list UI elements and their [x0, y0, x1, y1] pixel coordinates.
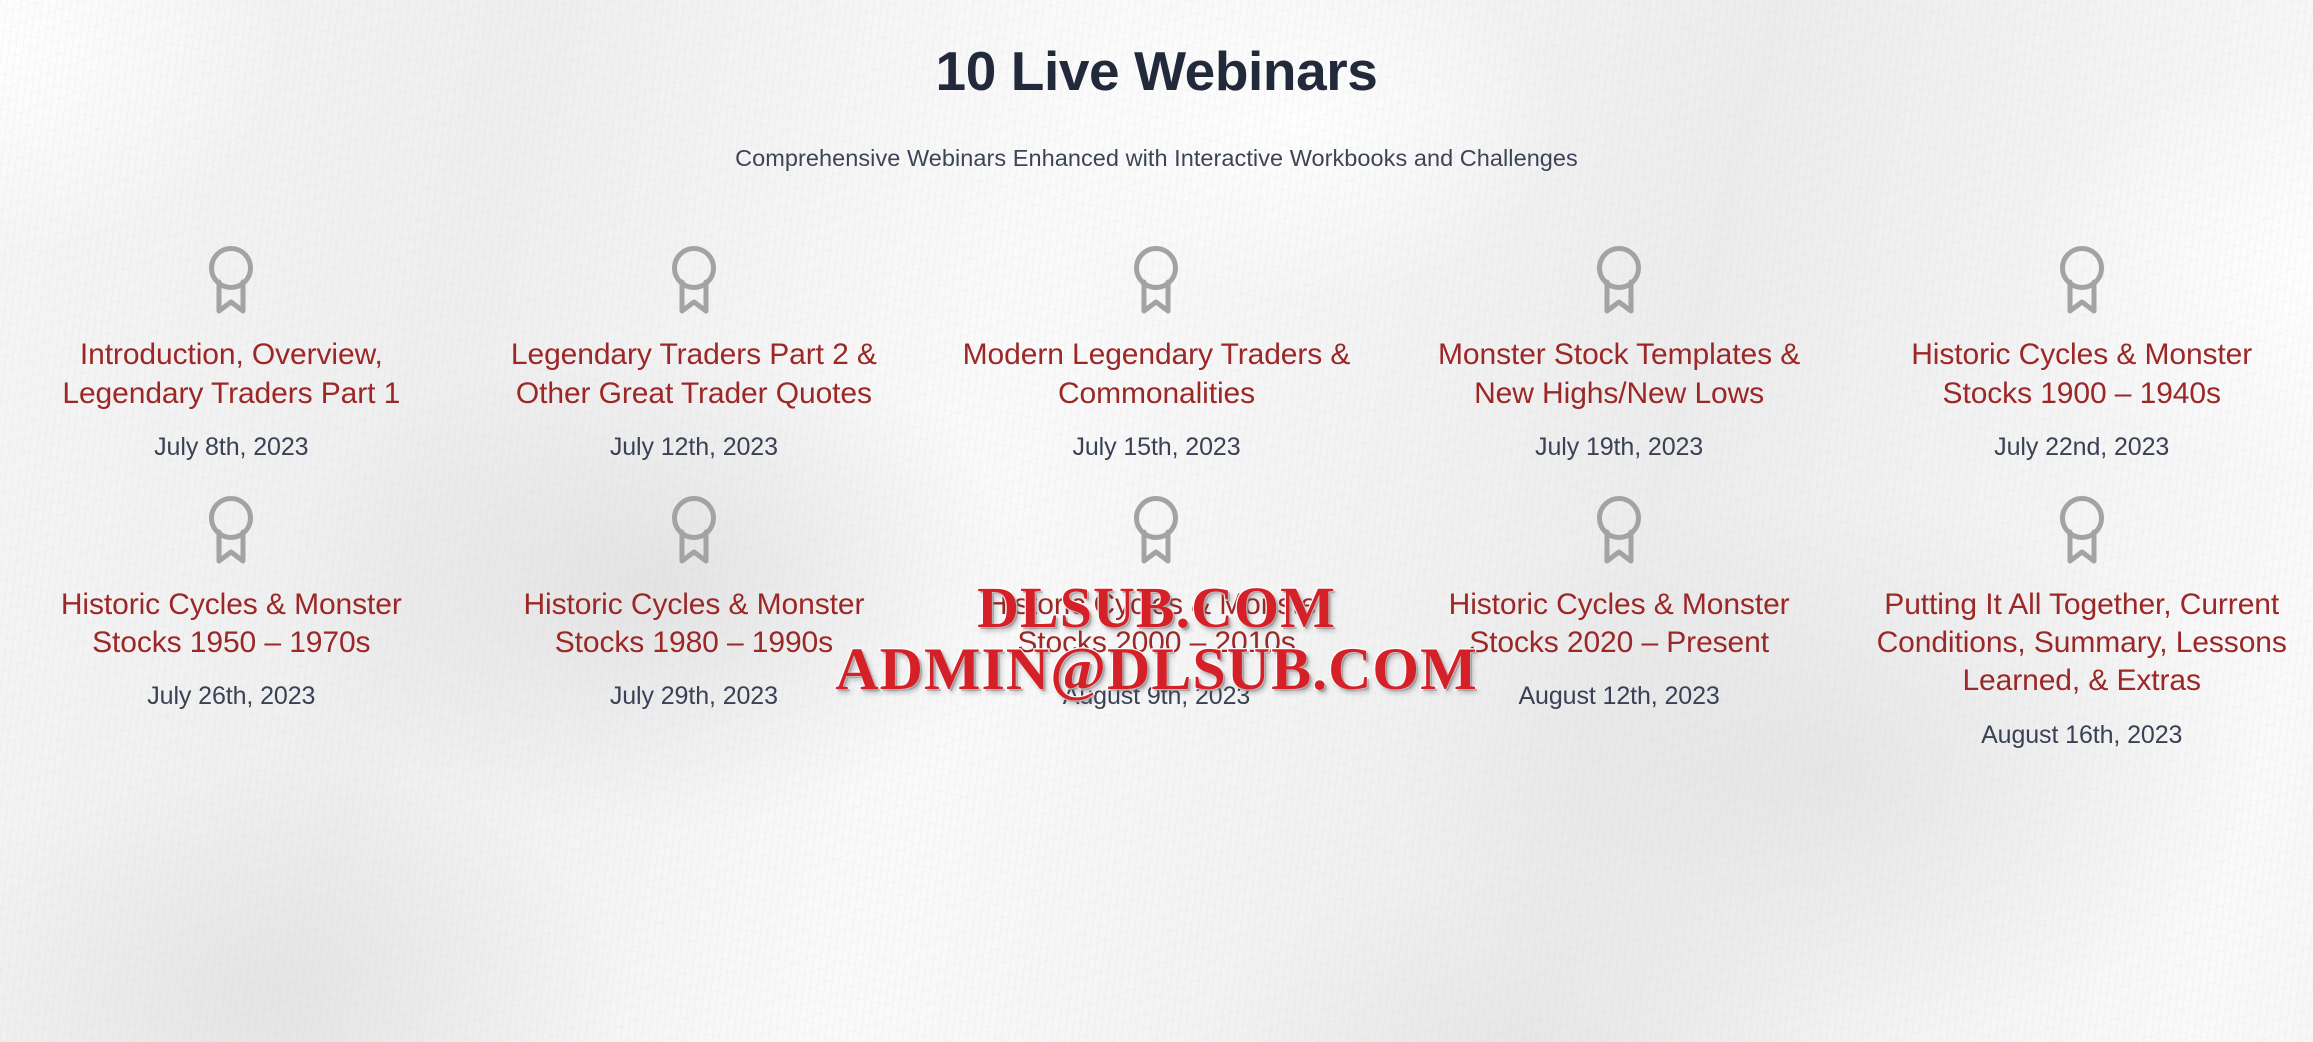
award-ribbon-icon [2050, 244, 2114, 316]
webinar-title: Historic Cycles & Monster Stocks 2020 – … [1410, 586, 1829, 663]
webinar-card[interactable]: Historic Cycles & Monster Stocks 1900 – … [1850, 244, 2313, 463]
webinar-date: July 26th, 2023 [147, 680, 315, 713]
webinar-card[interactable]: Legendary Traders Part 2 & Other Great T… [463, 244, 926, 463]
page-title: 10 Live Webinars [0, 0, 2313, 101]
webinar-title: Historic Cycles & Monster Stocks 1980 – … [485, 586, 904, 663]
webinar-title: Historic Cycles & Monster Stocks 1950 – … [22, 586, 441, 663]
webinar-date: July 12th, 2023 [610, 431, 778, 464]
webinar-title: Legendary Traders Part 2 & Other Great T… [485, 336, 904, 413]
award-ribbon-icon [662, 494, 726, 566]
award-ribbon-icon [1124, 494, 1188, 566]
webinar-date: August 12th, 2023 [1518, 680, 1719, 713]
award-ribbon-icon [662, 244, 726, 316]
webinar-date: July 19th, 2023 [1535, 431, 1703, 464]
webinar-title: Historic Cycles & Monster Stocks 2000 – … [947, 586, 1366, 663]
award-ribbon-icon [1587, 494, 1651, 566]
webinar-date: July 8th, 2023 [154, 431, 308, 464]
webinar-title: Historic Cycles & Monster Stocks 1900 – … [1872, 336, 2291, 413]
webinar-title: Modern Legendary Traders & Commonalities [947, 336, 1366, 413]
award-ribbon-icon [2050, 494, 2114, 566]
award-ribbon-icon [1124, 244, 1188, 316]
webinar-card[interactable]: Introduction, Overview, Legendary Trader… [0, 244, 463, 463]
award-ribbon-icon [199, 494, 263, 566]
webinar-card[interactable]: Modern Legendary Traders & Commonalities… [925, 244, 1388, 463]
webinar-card[interactable]: Historic Cycles & Monster Stocks 1980 – … [463, 494, 926, 752]
webinar-date: August 16th, 2023 [1981, 719, 2182, 752]
page-subtitle: Comprehensive Webinars Enhanced with Int… [0, 101, 2313, 172]
webinar-date: August 9th, 2023 [1063, 680, 1250, 713]
award-ribbon-icon [1587, 244, 1651, 316]
webinar-card[interactable]: Historic Cycles & Monster Stocks 1950 – … [0, 494, 463, 752]
webinar-card[interactable]: Historic Cycles & Monster Stocks 2020 – … [1388, 494, 1851, 752]
webinar-card[interactable]: Historic Cycles & Monster Stocks 2000 – … [925, 494, 1388, 752]
page-background: 10 Live Webinars Comprehensive Webinars … [0, 0, 2313, 1042]
webinar-title: Monster Stock Templates & New Highs/New … [1410, 336, 1829, 413]
webinar-date: July 15th, 2023 [1072, 431, 1240, 464]
webinar-title: Introduction, Overview, Legendary Trader… [22, 336, 441, 413]
webinar-grid: Introduction, Overview, Legendary Trader… [0, 172, 2313, 751]
award-ribbon-icon [199, 244, 263, 316]
webinar-date: July 22nd, 2023 [1994, 431, 2169, 464]
webinar-card[interactable]: Monster Stock Templates & New Highs/New … [1388, 244, 1851, 463]
webinar-date: July 29th, 2023 [610, 680, 778, 713]
page-header: 10 Live Webinars Comprehensive Webinars … [0, 0, 2313, 172]
page-content: 10 Live Webinars Comprehensive Webinars … [0, 0, 2313, 1042]
webinar-card[interactable]: Putting It All Together, Current Conditi… [1850, 494, 2313, 752]
webinar-title: Putting It All Together, Current Conditi… [1872, 586, 2291, 701]
